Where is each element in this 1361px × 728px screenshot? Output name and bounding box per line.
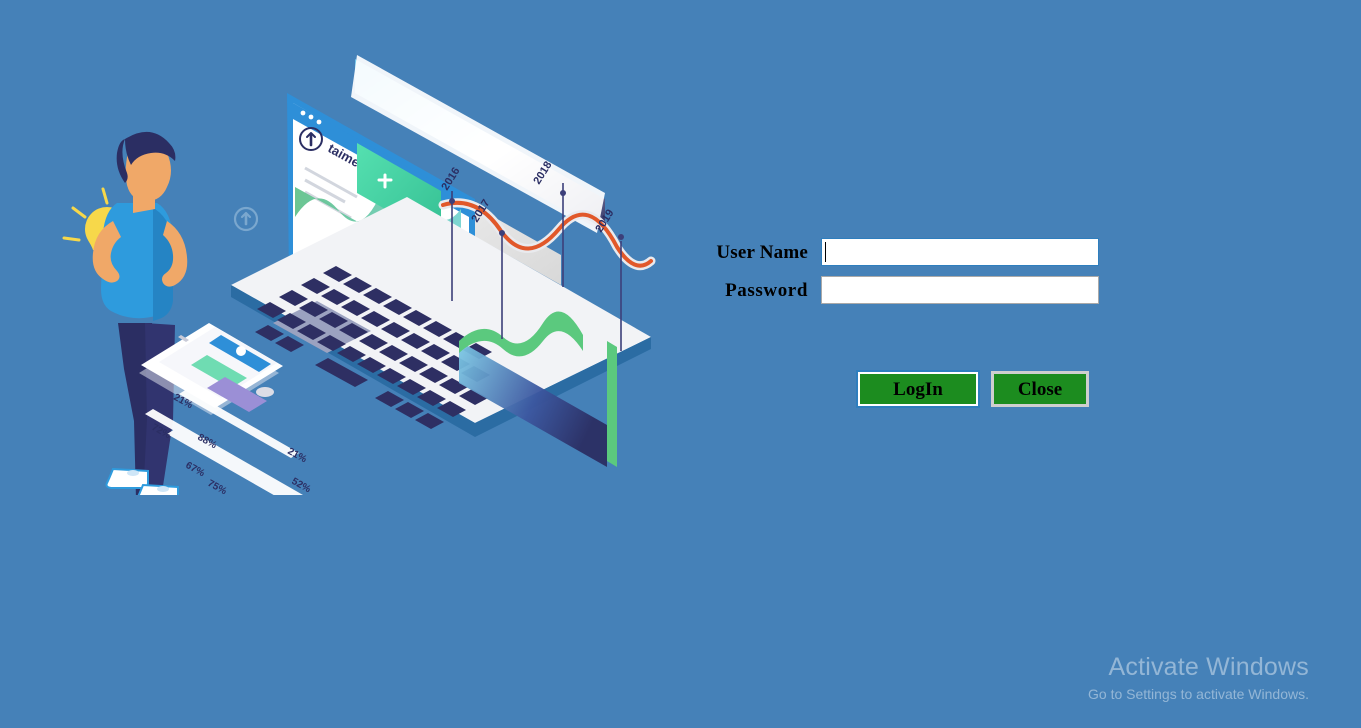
timeline-year-0: 2016	[439, 165, 462, 192]
text-caret	[825, 242, 826, 262]
username-row: User Name	[690, 238, 1130, 268]
activation-title: Activate Windows	[1088, 652, 1309, 682]
username-label: User Name	[690, 238, 808, 268]
login-button[interactable]: LogIn	[856, 370, 980, 408]
password-input[interactable]	[821, 276, 1099, 304]
windows-activation-watermark: Activate Windows Go to Settings to activ…	[1088, 652, 1309, 704]
password-row: Password	[690, 276, 1130, 306]
login-form: User Name Password LogIn Close	[690, 225, 1130, 435]
login-window: taimer	[0, 0, 1361, 728]
activation-subtitle: Go to Settings to activate Windows.	[1088, 684, 1309, 704]
username-input[interactable]	[821, 238, 1099, 266]
password-label: Password	[690, 276, 808, 306]
login-illustration: taimer	[55, 35, 685, 495]
person-figure	[93, 132, 188, 495]
taimer-watermark-icon	[235, 208, 257, 230]
bar-label-5: 21%	[286, 446, 309, 465]
bar-label-4: 75%	[206, 478, 229, 495]
bar-label-3: 67%	[184, 460, 207, 479]
close-button[interactable]: Close	[991, 371, 1089, 407]
